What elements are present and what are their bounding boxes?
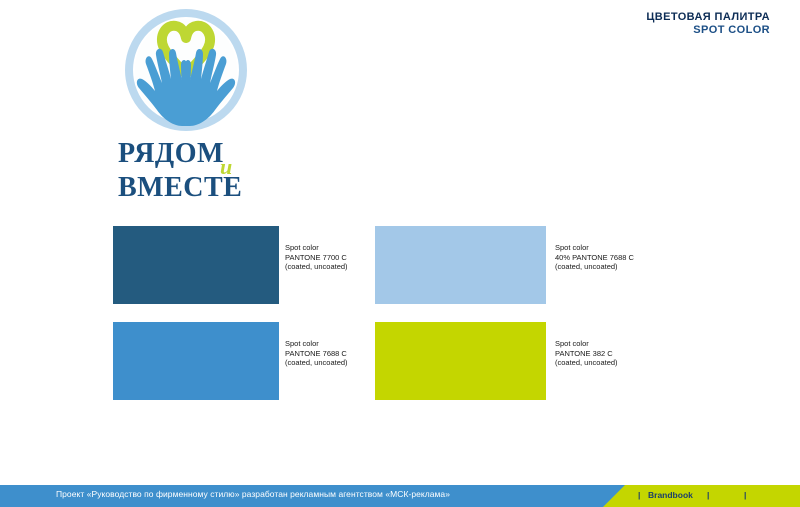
footer-bar: Проект «Руководство по фирменному стилю»… <box>0 485 800 507</box>
swatch-caption-line2: PANTONE 382 C <box>555 349 618 359</box>
swatch-chip-pantone-7700c <box>113 226 279 304</box>
swatch-caption-line1: Spot color <box>285 243 348 253</box>
footer-credit-text: Проект «Руководство по фирменному стилю»… <box>56 489 450 499</box>
swatch-caption-line2: PANTONE 7688 C <box>285 349 348 359</box>
footer-separator-left: | <box>638 490 640 500</box>
page-title: ЦВЕТОВАЯ ПАЛИТРА SPOT COLOR <box>646 11 770 37</box>
swatch-caption-line3: (coated, uncoated) <box>555 262 634 272</box>
logo-word-bottom: ВМЕСТЕ <box>118 172 242 203</box>
swatch-caption-line1: Spot color <box>555 339 618 349</box>
logo-word-top: РЯДОМ <box>118 138 224 169</box>
brand-logo: РЯДОМ и ВМЕСТЕ <box>112 8 272 203</box>
swatch-chip-pantone-382c <box>375 322 546 400</box>
swatch-caption-line3: (coated, uncoated) <box>555 358 618 368</box>
swatch-caption: Spot color 40% PANTONE 7688 C (coated, u… <box>555 243 634 272</box>
swatch-caption-line3: (coated, uncoated) <box>285 262 348 272</box>
swatch-caption-line2: PANTONE 7700 C <box>285 253 348 263</box>
swatch-caption-line3: (coated, uncoated) <box>285 358 348 368</box>
swatch-chip-pantone-7688c <box>113 322 279 400</box>
footer-separator-right: | <box>744 490 746 500</box>
swatch-caption-line2: 40% PANTONE 7688 C <box>555 253 634 263</box>
page-title-ru: ЦВЕТОВАЯ ПАЛИТРА <box>646 11 770 24</box>
brandbook-slide: { "header": { "title_ru": "ЦВЕТОВАЯ ПАЛИ… <box>0 0 800 507</box>
footer-brandbook-label[interactable]: Brandbook <box>648 490 693 500</box>
swatch-caption-line1: Spot color <box>285 339 348 349</box>
swatch-caption-line1: Spot color <box>555 243 634 253</box>
page-title-en: SPOT COLOR <box>646 24 770 37</box>
logo-mark-icon <box>112 8 260 138</box>
swatch-caption: Spot color PANTONE 7688 C (coated, uncoa… <box>285 339 348 368</box>
logo-wordmark: РЯДОМ и ВМЕСТЕ <box>112 130 262 205</box>
footer-separator-mid: | <box>707 490 709 500</box>
swatch-chip-pantone-7688c-40 <box>375 226 546 304</box>
swatch-caption: Spot color PANTONE 382 C (coated, uncoat… <box>555 339 618 368</box>
swatch-caption: Spot color PANTONE 7700 C (coated, uncoa… <box>285 243 348 272</box>
